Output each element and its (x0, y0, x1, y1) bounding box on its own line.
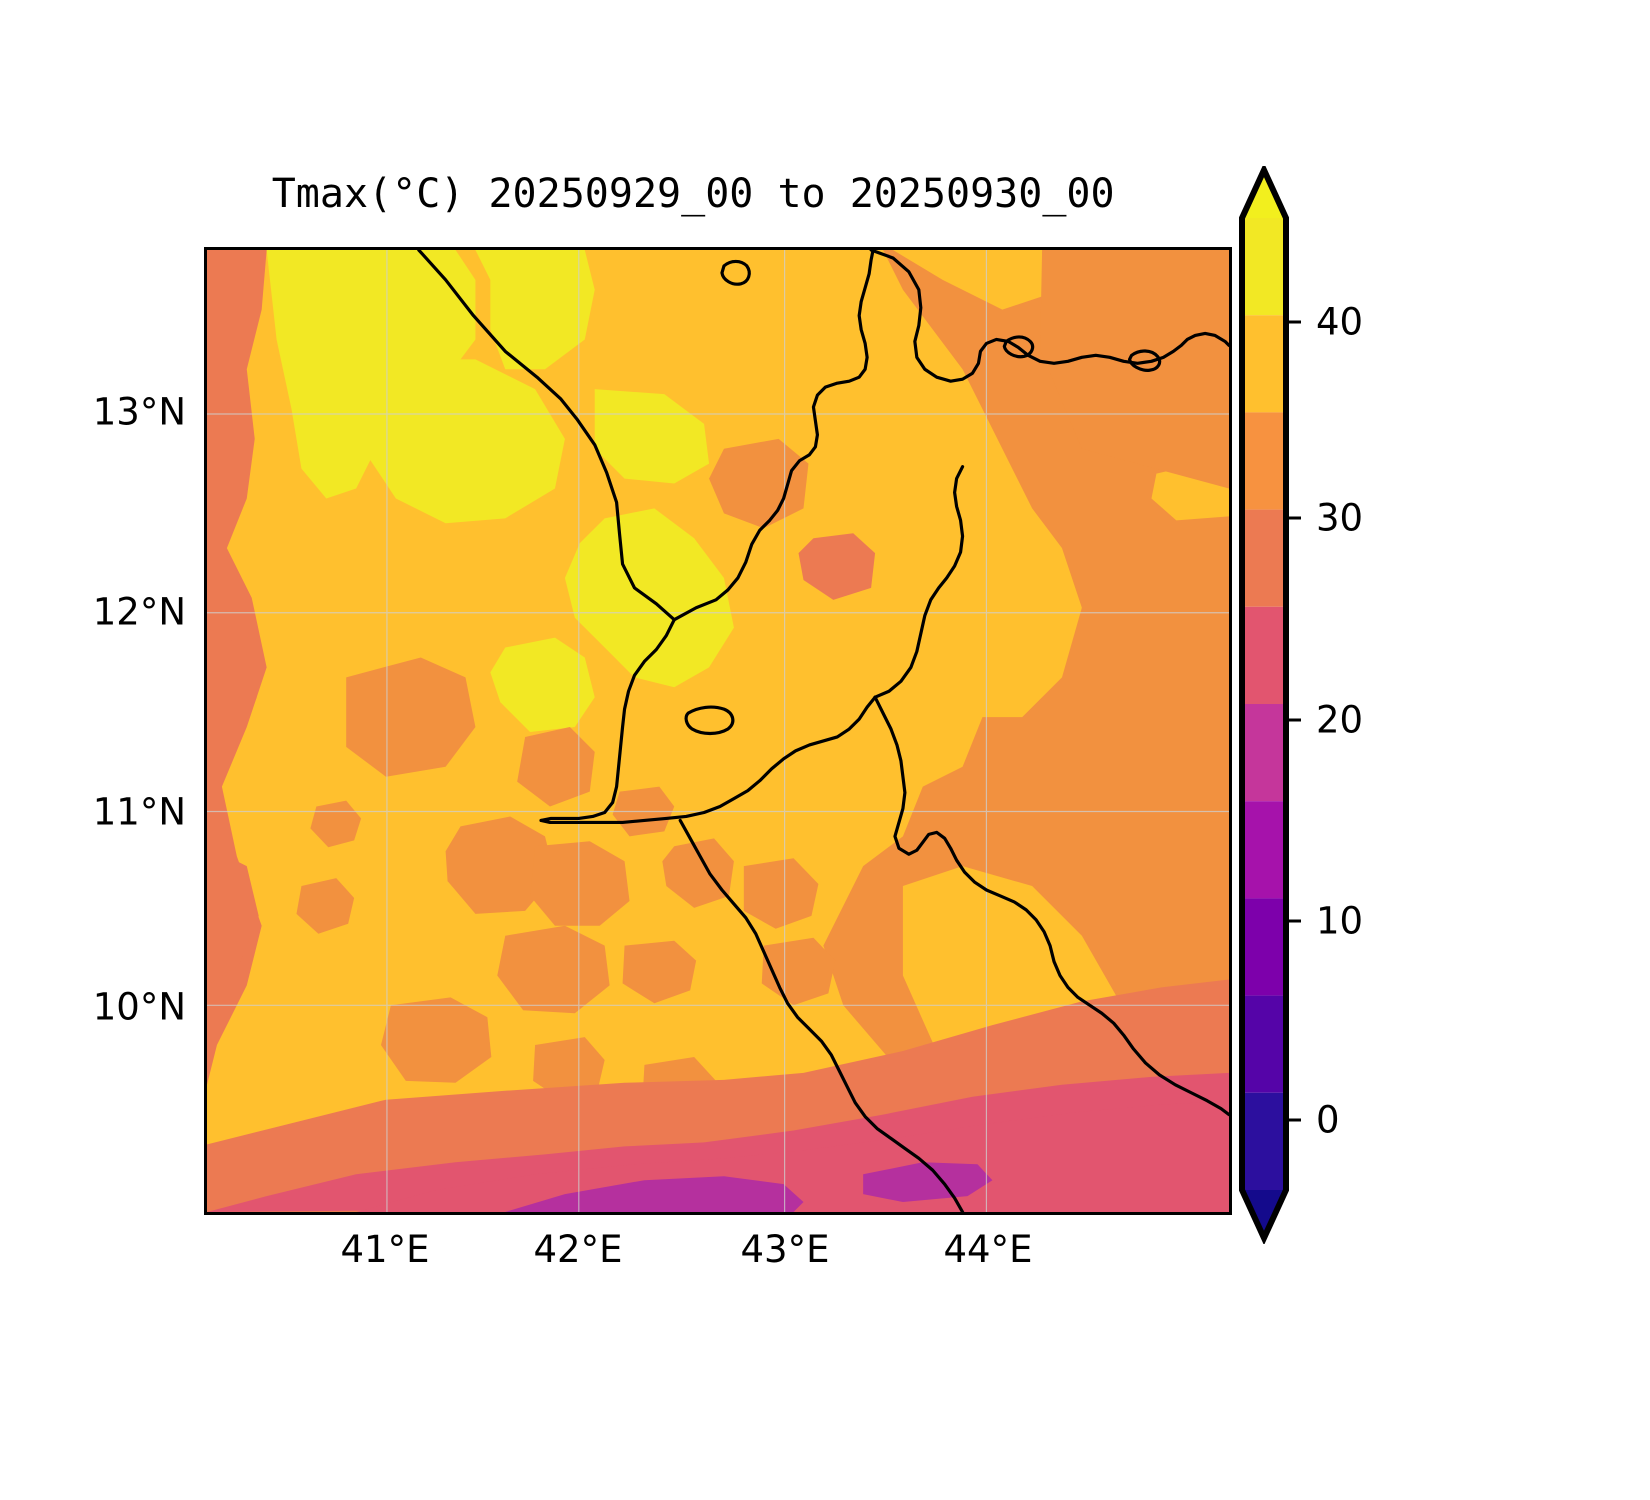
title-line-1: Tmax(°C) 20250929_00 to 20250930_00 (272, 171, 1115, 217)
colorbar-tick-mark-0 (1286, 1119, 1301, 1122)
colorbar (1242, 218, 1286, 1190)
colorbar-tick-label-0: 0 (1316, 1099, 1340, 1142)
ytick-label-11N: 11°N (93, 791, 186, 834)
colorbar-tick-mark-30 (1286, 517, 1301, 520)
xtick-label-44E: 44°E (944, 1228, 1033, 1271)
xtick-label-43E: 43°E (741, 1228, 830, 1271)
map-plot-area (204, 247, 1232, 1215)
xtick-label-41E: 41°E (341, 1228, 430, 1271)
ytick-label-12N: 12°N (93, 591, 186, 634)
colorbar-gradient (1220, 166, 1308, 1244)
colorbar-tick-label-10: 10 (1316, 900, 1363, 943)
colorbar-tick-label-30: 30 (1316, 497, 1363, 540)
colorbar-tick-mark-10 (1286, 920, 1301, 923)
figure-canvas: Tmax(°C) 20250929_00 to 20250930_00 Simu… (0, 0, 1650, 1500)
contour-field (207, 250, 1229, 1212)
ytick-label-10N: 10°N (93, 986, 186, 1029)
xtick-label-42E: 42°E (534, 1228, 623, 1271)
colorbar-tick-mark-20 (1286, 719, 1301, 722)
colorbar-tick-label-20: 20 (1316, 699, 1363, 742)
colorbar-tick-mark-40 (1286, 321, 1301, 324)
colorbar-bands (1242, 218, 1286, 1190)
colorbar-tick-label-40: 40 (1316, 301, 1363, 344)
ytick-label-13N: 13°N (93, 391, 186, 434)
